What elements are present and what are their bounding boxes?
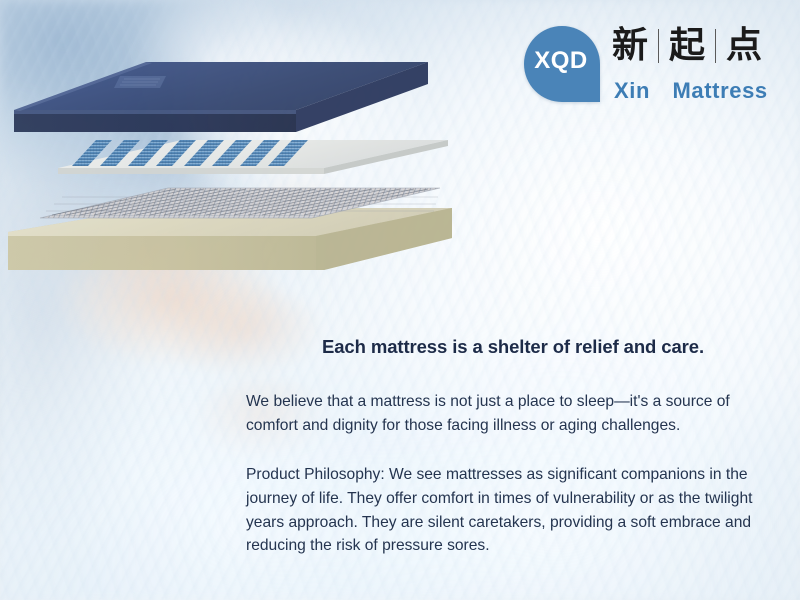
logo-chinese-name: 新 起 点: [612, 28, 762, 64]
logo-separator-1: [658, 29, 659, 63]
logo-speech-bubble-icon: XQD: [524, 26, 600, 102]
logo-english-word-2: Mattress: [672, 78, 767, 103]
exploded-mattress-diagram: [0, 40, 460, 270]
logo-english-name: Xin Mattress: [614, 78, 768, 104]
logo-chinese-char-2: 起: [669, 28, 705, 64]
mattress-cover-layer: [14, 62, 428, 132]
logo-monogram: XQD: [524, 26, 600, 102]
paragraph-belief: We believe that a mattress is not just a…: [246, 390, 780, 437]
headline: Each mattress is a shelter of relief and…: [246, 336, 780, 358]
brand-logo[interactable]: XQD 新 起 点 Xin Mattress: [524, 26, 776, 126]
logo-chinese-char-1: 新: [612, 28, 648, 64]
logo-english-word-1: Xin: [614, 78, 650, 103]
logo-chinese-char-3: 点: [726, 28, 762, 64]
paragraph-philosophy: Product Philosophy: We see mattresses as…: [246, 463, 780, 558]
promo-banner: XQD 新 起 点 Xin Mattress Each mattress is …: [0, 0, 800, 600]
copy-block: Each mattress is a shelter of relief and…: [246, 336, 780, 558]
mattress-foam-pad-layer: [58, 140, 448, 174]
logo-separator-2: [715, 29, 716, 63]
